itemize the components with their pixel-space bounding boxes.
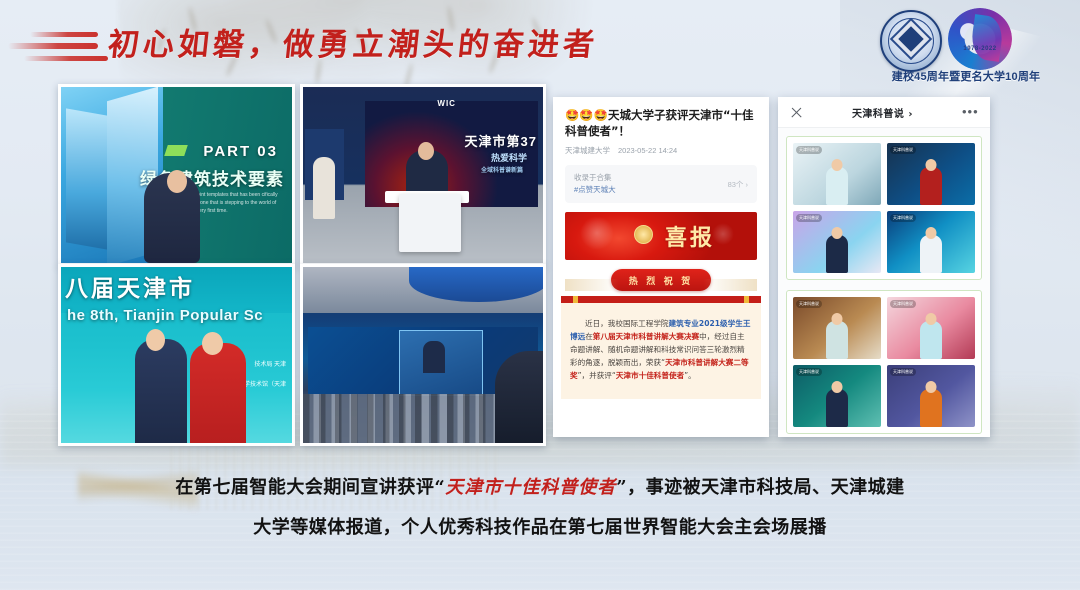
video-card-group-1: 天津科普说 天津科普说 天津科普说 天津科普说 (786, 136, 982, 280)
article-body-card: 近日，我校国际工程学院建筑专业2021级学生王博远在第八届天津市科普讲解大赛决赛… (561, 301, 761, 399)
body-seg-5: ”。 (684, 371, 696, 380)
video-thumbnail[interactable]: 天津科普说 (793, 211, 881, 273)
photo3-side-line2: 学技术馆（天津 (244, 379, 286, 388)
collection-tag[interactable]: #点赞天城大 (574, 184, 616, 196)
photo3-side-line1: 技术局 天津 (254, 359, 286, 368)
caption-line1-pre: 在第七届智能大会期间宣讲获评“ (175, 477, 445, 498)
video-card-group-2: 天津科普说 天津科普说 天津科普说 天津科普说 (786, 290, 982, 434)
logo-group: 1978-2022 建校45周年暨更名大学10周年 (860, 6, 1072, 86)
logo-caption: 建校45周年暨更名大学10周年 (860, 68, 1072, 84)
photo2-screen-sub: 热爱科学 (491, 151, 527, 164)
anniversary-years: 1978-2022 (948, 46, 1012, 52)
photo3-backdrop-en: he 8th, Tianjin Popular Sc (67, 307, 263, 324)
thumbnail-figure (826, 235, 848, 273)
page-title: 初心如磐，做勇立潮头的奋进者 (106, 22, 631, 68)
video-thumbnail[interactable]: 天津科普说 (887, 143, 975, 205)
photo1-slide-part: PART 03 (203, 143, 278, 160)
miniprogram-title[interactable]: 天津科普说 › (803, 105, 962, 120)
photo4-foreground-person (495, 351, 543, 443)
miniprogram-navbar: 天津科普说 › ••• (778, 97, 990, 128)
thumbnail-tag: 天津科普说 (796, 300, 822, 308)
decor-speed-lines (8, 30, 113, 66)
close-icon[interactable] (790, 106, 803, 119)
body-seg-4: ”，并获评“ (578, 371, 616, 380)
caption-line2: 大学等媒体报道，个人优秀科技作品在第七届世界智能大会主会场展播 (253, 517, 827, 538)
thumbnail-tag: 天津科普说 (890, 146, 916, 154)
more-icon[interactable]: ••• (962, 108, 978, 116)
thumbnail-head (926, 227, 937, 239)
photo-popular-science-backdrop: 八届天津市 he 8th, Tianjin Popular Sc 技术局 天津 … (58, 264, 295, 446)
photo2-attendant (313, 157, 335, 219)
thumbnail-figure (920, 321, 942, 359)
thumbnail-head (832, 313, 843, 325)
body-seg-1: 近日，我校国际工程学院 (585, 319, 669, 328)
collection-count[interactable]: 83个 › (728, 179, 748, 190)
video-thumbnail[interactable]: 天津科普说 (793, 143, 881, 205)
headline-emoji: 🤩🤩🤩 (565, 108, 608, 122)
photo1-accent-chip (164, 145, 188, 156)
collection-labels: 收录于合集 #点赞天城大 (574, 172, 616, 196)
photo-wic-congress-stage: WIC 天津市第37 热爱科学 全域科普谱新篇 (300, 84, 546, 266)
article-datetime: 2023-05-22 14:24 (618, 146, 677, 155)
thumbnail-head (926, 313, 937, 325)
photo2-screen-sub2: 全域科普谱新篇 (481, 165, 523, 174)
photo3-person-right-body (190, 343, 246, 443)
thumbnail-figure (920, 167, 942, 205)
photo3-person-right-head (202, 332, 223, 355)
photo3-person-left-body (135, 339, 187, 443)
article-hero-banner: 喜报 (565, 212, 757, 260)
thumbnail-figure (920, 389, 942, 427)
thumbnail-head (832, 227, 843, 239)
thumbnail-tag: 天津科普说 (796, 146, 822, 154)
miniprogram-content: 天津科普说 天津科普说 天津科普说 天津科普说 (778, 128, 990, 430)
photo3-backdrop-cn: 八届天津市 (65, 269, 195, 303)
article-account[interactable]: 天津城建大学 (565, 145, 610, 156)
thumbnail-tag: 天津科普说 (890, 368, 916, 376)
video-thumbnail[interactable]: 天津科普说 (887, 365, 975, 427)
body-highlight-2: 第八届天津市科普讲解大赛决赛 (593, 332, 699, 341)
thumbnail-head (926, 381, 937, 393)
miniprogram-panel[interactable]: 天津科普说 › ••• 天津科普说 天津科普说 天津科普说 (778, 97, 990, 437)
collection-label: 收录于合集 (574, 173, 612, 182)
slide-canvas: 初心如磐，做勇立潮头的奋进者 1978-2022 建校45周年暨更名大学10周年… (0, 0, 1080, 590)
thumbnail-figure (826, 389, 848, 427)
video-thumbnail[interactable]: 天津科普说 (887, 297, 975, 359)
ribbon-decoration (561, 296, 761, 303)
photo1-building-a (66, 108, 108, 249)
university-seal-icon (880, 10, 942, 72)
thumbnail-figure (826, 321, 848, 359)
banner-seal-icon (634, 225, 653, 244)
photo-green-building-lecture: PART 03 绿色建筑技术要素 have many PowerPoint te… (58, 84, 295, 266)
wechat-article-panel[interactable]: 🤩🤩🤩天城大学子获评天津市“十佳科普使者”！ 天津城建大学 2023-05-22… (553, 97, 769, 437)
article-collection-card[interactable]: 收录于合集 #点赞天城大 83个 › (565, 165, 757, 203)
thumbnail-figure (920, 235, 942, 273)
article-body-text: 近日，我校国际工程学院建筑专业2021级学生王博远在第八届天津市科普讲解大赛决赛… (570, 317, 752, 382)
thumbnail-tag: 天津科普说 (796, 368, 822, 376)
slide-caption: 在第七届智能大会期间宣讲获评“天津市十佳科普使者”，事迹被天津市科技局、天津城建… (60, 468, 1020, 548)
thumbnail-head (832, 381, 843, 393)
caption-line1-post: ”，事迹被天津市科技局、天津城建 (616, 477, 904, 498)
thumbnail-head (832, 159, 843, 171)
photo-main-venue-broadcast (300, 264, 546, 446)
photo4-on-screen-speaker (423, 341, 445, 373)
wheat-decoration (565, 279, 757, 291)
video-grid-2: 天津科普说 天津科普说 天津科普说 天津科普说 (793, 297, 975, 427)
photo2-screen-main: 天津市第37 (465, 131, 537, 150)
thumbnail-tag: 天津科普说 (890, 300, 916, 308)
body-highlight-4: 天津市十佳科普使者 (616, 371, 684, 380)
banner-text: 喜报 (665, 220, 715, 252)
video-thumbnail[interactable]: 天津科普说 (887, 211, 975, 273)
thumbnail-figure (826, 167, 848, 205)
thumbnail-head (926, 159, 937, 171)
article-headline: 🤩🤩🤩天城大学子获评天津市“十佳科普使者”！ (553, 97, 769, 141)
photo2-wic-logo: WIC (437, 99, 456, 108)
video-grid-1: 天津科普说 天津科普说 天津科普说 天津科普说 (793, 143, 975, 273)
thumbnail-tag: 天津科普说 (796, 214, 822, 222)
article-meta: 天津城建大学 2023-05-22 14:24 (553, 141, 769, 156)
photo2-podium (399, 194, 461, 252)
body-seg-2: 在 (585, 332, 593, 341)
caption-award: 天津市十佳科普使者 (445, 477, 616, 498)
photo2-speaker-head (418, 142, 434, 160)
thumbnail-tag: 天津科普说 (890, 214, 916, 222)
video-thumbnail[interactable]: 天津科普说 (793, 365, 881, 427)
video-thumbnail[interactable]: 天津科普说 (793, 297, 881, 359)
